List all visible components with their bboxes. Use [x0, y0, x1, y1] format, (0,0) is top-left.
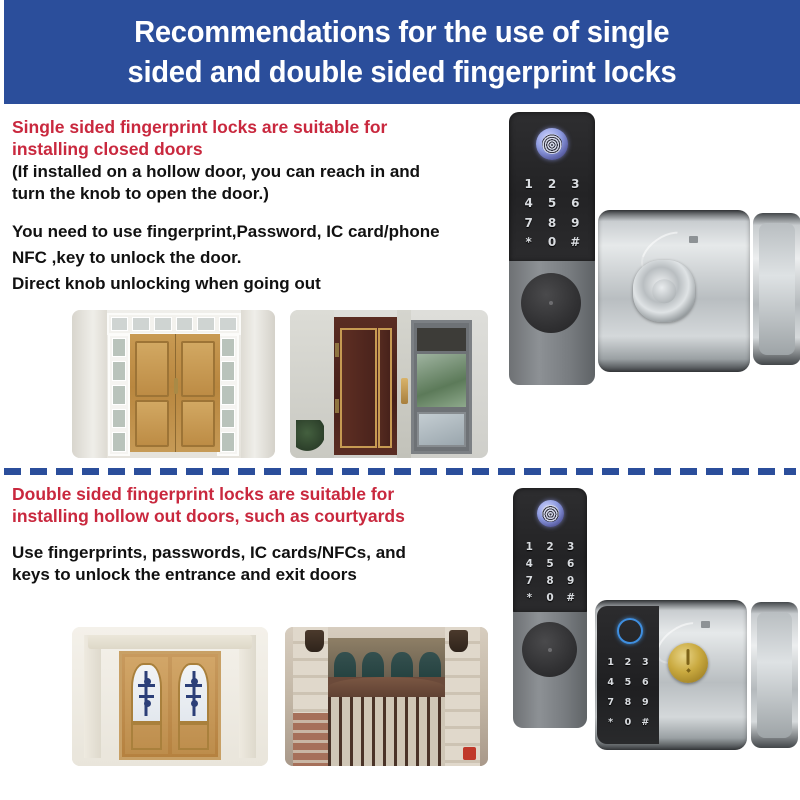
- device-double-sided-fingerprint-lock: 1 2 3 4 5 6 7 8 9 * 0 # ◆: [505, 488, 795, 758]
- knob[interactable]: [521, 273, 581, 333]
- key2-3[interactable]: 3: [560, 538, 581, 555]
- key2-8[interactable]: 8: [540, 572, 561, 589]
- section-divider: [4, 468, 796, 475]
- spacer: [12, 528, 512, 542]
- double-sided-heading-line-1: Double sided fingerprint locks are suita…: [12, 484, 512, 505]
- double-sided-body-line-1: Use fingerprints, passwords, IC cards/NF…: [12, 542, 512, 564]
- single-sided-body-line-3: Direct knob unlocking when going out: [12, 271, 512, 297]
- single-sided-note-line-2: turn the knob to open the door.): [12, 183, 512, 205]
- fingerprint-sensor-icon[interactable]: [536, 128, 568, 160]
- single-sided-body-line-1: You need to use fingerprint,Password, IC…: [12, 219, 512, 245]
- inner-key-5[interactable]: 5: [619, 672, 636, 692]
- inner-key-star[interactable]: *: [602, 712, 619, 732]
- photo-brown-entry-door: [290, 310, 488, 458]
- front-keypad-panel-2: 1 2 3 4 5 6 7 8 9 * 0 #: [513, 488, 587, 613]
- inner-key-8[interactable]: 8: [619, 692, 636, 712]
- device-single-sided-fingerprint-lock: 1 2 3 4 5 6 7 8 9 * 0 #: [505, 112, 795, 392]
- knob-2[interactable]: [522, 622, 577, 677]
- rosette-thumbturn[interactable]: [633, 260, 695, 322]
- key-7[interactable]: 7: [517, 213, 540, 233]
- section-double-sided: Double sided fingerprint locks are suita…: [0, 478, 800, 800]
- key2-9[interactable]: 9: [560, 572, 581, 589]
- inner-fingerprint-sensor-icon[interactable]: [617, 618, 643, 644]
- inner-key-3[interactable]: 3: [637, 652, 654, 672]
- inner-key-0[interactable]: 0: [619, 712, 636, 732]
- front-panel-lower-body-2: [513, 612, 587, 728]
- front-panel-lower-body: [509, 261, 595, 385]
- strike-plate-2: [751, 602, 798, 748]
- double-sided-text-block: Double sided fingerprint locks are suita…: [12, 484, 512, 586]
- key-6[interactable]: 6: [564, 194, 587, 214]
- inner-key-hash[interactable]: #: [637, 712, 654, 732]
- inner-key-2[interactable]: 2: [619, 652, 636, 672]
- key-hash[interactable]: #: [564, 233, 587, 253]
- inner-keypad-panel: 1 2 3 4 5 6 7 8 9 * 0 #: [597, 606, 659, 744]
- poster-root: Recommendations for the use of single si…: [0, 0, 800, 800]
- page-title-line-1: Recommendations for the use of single: [134, 12, 669, 52]
- photo-wooden-double-door: [72, 310, 275, 458]
- double-sided-heading-line-2: installing hollow out doors, such as cou…: [12, 506, 512, 527]
- key2-0[interactable]: 0: [540, 589, 561, 606]
- photo-ornate-arched-double-door: [72, 627, 268, 766]
- key2-2[interactable]: 2: [540, 538, 561, 555]
- single-sided-heading-line-2: installing closed doors: [12, 139, 512, 160]
- page-header: Recommendations for the use of single si…: [4, 0, 800, 104]
- key2-1[interactable]: 1: [519, 538, 540, 555]
- strike-plate: [753, 213, 800, 365]
- watermark-stamp: [463, 747, 476, 760]
- key2-6[interactable]: 6: [560, 555, 581, 572]
- single-sided-note-line-1: (If installed on a hollow door, you can …: [12, 161, 512, 183]
- single-sided-text-block: Single sided fingerprint locks are suita…: [12, 117, 512, 297]
- keypad-2[interactable]: 1 2 3 4 5 6 7 8 9 * 0 #: [519, 538, 581, 606]
- key2-5[interactable]: 5: [540, 555, 561, 572]
- key-star[interactable]: *: [517, 233, 540, 253]
- single-sided-heading-line-1: Single sided fingerprint locks are suita…: [12, 117, 512, 138]
- key-3[interactable]: 3: [564, 174, 587, 194]
- page-title-line-2: sided and double sided fingerprint locks: [128, 52, 677, 92]
- key2-7[interactable]: 7: [519, 572, 540, 589]
- key2-star[interactable]: *: [519, 589, 540, 606]
- inner-key-4[interactable]: 4: [602, 672, 619, 692]
- key2-4[interactable]: 4: [519, 555, 540, 572]
- key-4[interactable]: 4: [517, 194, 540, 214]
- key-9[interactable]: 9: [564, 213, 587, 233]
- section-single-sided: Single sided fingerprint locks are suita…: [0, 104, 800, 470]
- key-0[interactable]: 0: [540, 233, 563, 253]
- key2-hash[interactable]: #: [560, 589, 581, 606]
- single-sided-body-line-2: NFC ,key to unlock the door.: [12, 245, 512, 271]
- inner-keypad[interactable]: 1 2 3 4 5 6 7 8 9 * 0 #: [602, 652, 654, 732]
- photo-courtyard-iron-gate: [285, 627, 488, 766]
- fingerprint-sensor-icon-2[interactable]: [537, 500, 564, 527]
- inner-key-6[interactable]: 6: [637, 672, 654, 692]
- double-sided-body-line-2: keys to unlock the entrance and exit doo…: [12, 564, 512, 586]
- keypad[interactable]: 1 2 3 4 5 6 7 8 9 * 0 #: [517, 174, 587, 252]
- front-keypad-panel: 1 2 3 4 5 6 7 8 9 * 0 #: [509, 112, 595, 262]
- key-2[interactable]: 2: [540, 174, 563, 194]
- key-8[interactable]: 8: [540, 213, 563, 233]
- brass-key-cylinder[interactable]: ◆: [668, 643, 708, 683]
- spacer: [12, 205, 512, 219]
- key-1[interactable]: 1: [517, 174, 540, 194]
- inner-key-7[interactable]: 7: [602, 692, 619, 712]
- inner-key-1[interactable]: 1: [602, 652, 619, 672]
- inner-key-9[interactable]: 9: [637, 692, 654, 712]
- key-5[interactable]: 5: [540, 194, 563, 214]
